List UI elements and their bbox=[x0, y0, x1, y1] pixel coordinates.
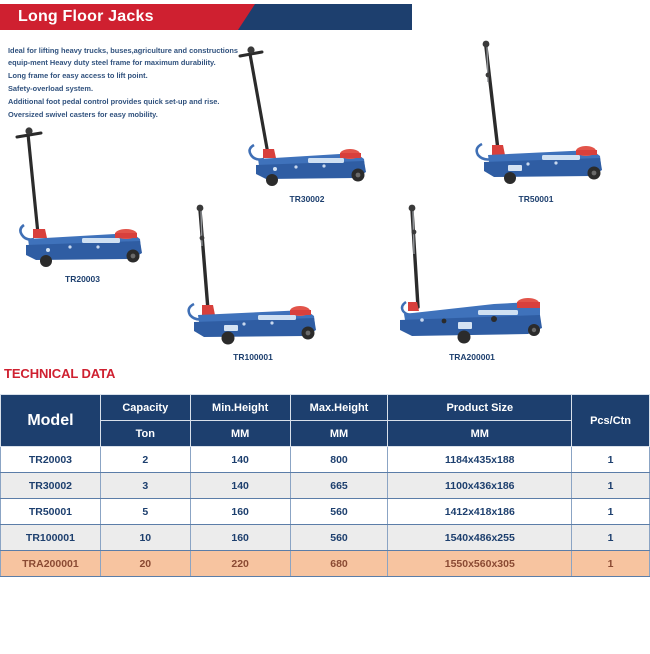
table-row: TR100001 10 160 560 1540x486x255 1 bbox=[1, 525, 650, 551]
cell-capacity: 10 bbox=[100, 525, 190, 551]
cell-capacity: 2 bbox=[100, 447, 190, 473]
cell-max-height: 560 bbox=[290, 525, 388, 551]
product-item-tr100001: TR100001 bbox=[172, 202, 334, 367]
product-item-tr30002: TR30002 bbox=[228, 32, 386, 207]
cell-min-height: 140 bbox=[190, 447, 290, 473]
cell-max-height: 800 bbox=[290, 447, 388, 473]
cell-model: TR50001 bbox=[1, 499, 101, 525]
cell-product-size: 1412x418x186 bbox=[388, 499, 572, 525]
cell-product-size: 1540x486x255 bbox=[388, 525, 572, 551]
column-unit-min-height: MM bbox=[190, 421, 290, 447]
table-row-highlighted: TRA200001 20 220 680 1550x560x305 1 bbox=[1, 551, 650, 577]
column-unit-max-height: MM bbox=[290, 421, 388, 447]
floor-jack-image-tr20003 bbox=[0, 119, 165, 269]
cell-max-height: 560 bbox=[290, 499, 388, 525]
product-caption-tra200001: TRA200001 bbox=[382, 352, 562, 362]
table-row: TR30002 3 140 665 1100x436x186 1 bbox=[1, 473, 650, 499]
floor-jack-image-tr50001 bbox=[450, 32, 622, 192]
cell-pcs-ctn: 1 bbox=[572, 473, 650, 499]
column-header-product-size: Product Size bbox=[388, 395, 572, 421]
cell-pcs-ctn: 1 bbox=[572, 499, 650, 525]
cell-max-height: 665 bbox=[290, 473, 388, 499]
cell-model: TR30002 bbox=[1, 473, 101, 499]
product-item-tr20003: TR20003 bbox=[0, 119, 165, 284]
table-row: TR20003 2 140 800 1184x435x188 1 bbox=[1, 447, 650, 473]
cell-product-size: 1550x560x305 bbox=[388, 551, 572, 577]
column-unit-product-size: MM bbox=[388, 421, 572, 447]
column-unit-capacity: Ton bbox=[100, 421, 190, 447]
floor-jack-image-tra200001 bbox=[382, 202, 562, 352]
product-item-tr50001: TR50001 bbox=[450, 32, 622, 207]
technical-data-heading: TECHNICAL DATA bbox=[4, 366, 115, 381]
cell-min-height: 160 bbox=[190, 525, 290, 551]
floor-jack-image-tr30002 bbox=[228, 32, 386, 192]
column-header-min-height: Min.Height bbox=[190, 395, 290, 421]
product-caption-tr100001: TR100001 bbox=[172, 352, 334, 362]
cell-pcs-ctn: 1 bbox=[572, 551, 650, 577]
product-gallery: TR20003 TR30002 bbox=[0, 4, 650, 364]
cell-product-size: 1100x436x186 bbox=[388, 473, 572, 499]
floor-jack-image-tr100001 bbox=[172, 202, 334, 352]
cell-pcs-ctn: 1 bbox=[572, 447, 650, 473]
product-caption-tr20003: TR20003 bbox=[0, 274, 165, 284]
product-item-tra200001: TRA200001 bbox=[382, 202, 562, 367]
cell-pcs-ctn: 1 bbox=[572, 525, 650, 551]
cell-capacity: 3 bbox=[100, 473, 190, 499]
column-header-pcs-ctn: Pcs/Ctn bbox=[572, 395, 650, 447]
cell-min-height: 220 bbox=[190, 551, 290, 577]
technical-data-table: Model Capacity Min.Height Max.Height Pro… bbox=[0, 394, 650, 577]
cell-model: TR100001 bbox=[1, 525, 101, 551]
cell-product-size: 1184x435x188 bbox=[388, 447, 572, 473]
cell-model: TR20003 bbox=[1, 447, 101, 473]
cell-model: TRA200001 bbox=[1, 551, 101, 577]
cell-min-height: 140 bbox=[190, 473, 290, 499]
cell-min-height: 160 bbox=[190, 499, 290, 525]
table-header-row-primary: Model Capacity Min.Height Max.Height Pro… bbox=[1, 395, 650, 421]
table-row: TR50001 5 160 560 1412x418x186 1 bbox=[1, 499, 650, 525]
column-header-max-height: Max.Height bbox=[290, 395, 388, 421]
cell-capacity: 5 bbox=[100, 499, 190, 525]
table-header: Model Capacity Min.Height Max.Height Pro… bbox=[1, 395, 650, 447]
cell-capacity: 20 bbox=[100, 551, 190, 577]
column-header-model: Model bbox=[1, 395, 101, 447]
table-body: TR20003 2 140 800 1184x435x188 1 TR30002… bbox=[1, 447, 650, 577]
column-header-capacity: Capacity bbox=[100, 395, 190, 421]
cell-max-height: 680 bbox=[290, 551, 388, 577]
